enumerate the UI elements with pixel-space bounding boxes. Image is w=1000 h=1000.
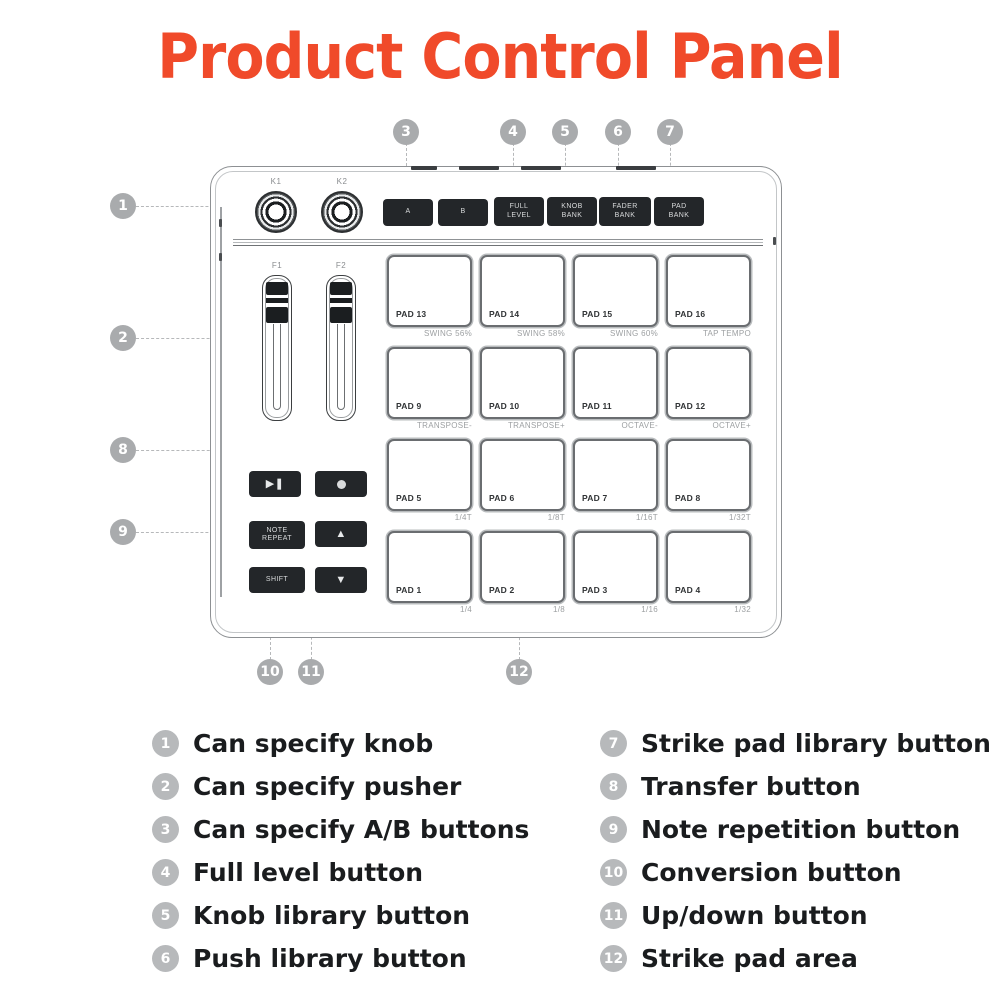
pad-9-label: PAD 9 [396, 401, 421, 411]
legend-text-6: Push library button [193, 944, 467, 973]
callout-2[interactable]: 2 [110, 325, 136, 351]
callout-1[interactable]: 1 [110, 193, 136, 219]
legend-item-4: 4 Full level button [152, 851, 529, 894]
callout-11[interactable]: 11 [298, 659, 324, 685]
legend-item-1: 1 Can specify knob [152, 722, 529, 765]
fader-f1[interactable] [262, 275, 292, 421]
top-edge-tick-1 [411, 166, 437, 170]
pad-1[interactable]: PAD 1 [387, 531, 472, 603]
pad-bank-button-label: PAD BANK [669, 203, 690, 220]
legend-badge-10: 10 [600, 859, 627, 886]
full-level-button-label: FULL LEVEL [507, 203, 531, 220]
a-button-label: A [405, 208, 410, 217]
legend-item-8: 8 Transfer button [600, 765, 991, 808]
device-notch-lower [219, 253, 222, 261]
callout-7[interactable]: 7 [657, 119, 683, 145]
top-edge-tick-3 [521, 166, 561, 170]
triangle-up-icon: ▲ [335, 529, 346, 540]
pad-2[interactable]: PAD 2 [480, 531, 565, 603]
pad-3-sub: 1/16 [573, 605, 658, 614]
shift-button-label: SHIFT [266, 576, 288, 585]
pad-11[interactable]: PAD 11 [573, 347, 658, 419]
record-icon [337, 480, 346, 489]
pad-9[interactable]: PAD 9 [387, 347, 472, 419]
pad-7-label: PAD 7 [582, 493, 607, 503]
legend-badge-5: 5 [152, 902, 179, 929]
knob-bank-button-label: KNOB BANK [561, 203, 582, 220]
legend-badge-9: 9 [600, 816, 627, 843]
legend-text-9: Note repetition button [641, 815, 960, 844]
legend-text-8: Transfer button [641, 772, 861, 801]
record-button[interactable] [315, 471, 367, 497]
fader-f1-wrap: F1 [262, 275, 292, 421]
legend-item-3: 3 Can specify A/B buttons [152, 808, 529, 851]
fader-f2-slot [337, 318, 345, 410]
legend-item-2: 2 Can specify pusher [152, 765, 529, 808]
fader-f2-wrap: F2 [326, 275, 356, 421]
pad-15-label: PAD 15 [582, 309, 612, 319]
fader-f2-label: F2 [336, 261, 346, 270]
pad-13-sub: SWING 56% [387, 329, 472, 338]
legend-item-6: 6 Push library button [152, 937, 529, 980]
pad-3-label: PAD 3 [582, 585, 607, 595]
legend-badge-3: 3 [152, 816, 179, 843]
fader-f1-label: F1 [272, 261, 282, 270]
b-button[interactable]: B [438, 199, 488, 226]
fader-f1-slot [273, 318, 281, 410]
legend-badge-4: 4 [152, 859, 179, 886]
b-button-label: B [460, 208, 465, 217]
pad-13-label: PAD 13 [396, 309, 426, 319]
pad-2-sub: 1/8 [480, 605, 565, 614]
pad-1-label: PAD 1 [396, 585, 421, 595]
legend-text-3: Can specify A/B buttons [193, 815, 529, 844]
legend-text-4: Full level button [193, 858, 423, 887]
play-pause-icon: ▶❚ [266, 479, 284, 490]
up-button[interactable]: ▲ [315, 521, 367, 547]
callout-10[interactable]: 10 [257, 659, 283, 685]
callout-6[interactable]: 6 [605, 119, 631, 145]
triangle-down-icon: ▼ [335, 575, 346, 586]
legend-column-right: 7 Strike pad library button 8 Transfer b… [600, 722, 991, 980]
pad-4[interactable]: PAD 4 [666, 531, 751, 603]
legend-badge-11: 11 [600, 902, 627, 929]
top-edge-tick-2 [459, 166, 499, 170]
note-repeat-button-label: NOTE REPEAT [262, 527, 292, 544]
pad-5[interactable]: PAD 5 [387, 439, 472, 511]
pad-10-sub: TRANSPOSE+ [480, 421, 565, 430]
pad-7-sub: 1/16T [573, 513, 658, 522]
pad-16-sub: TAP TEMPO [666, 329, 751, 338]
legend-badge-8: 8 [600, 773, 627, 800]
pad-14-label: PAD 14 [489, 309, 519, 319]
pad-5-label: PAD 5 [396, 493, 421, 503]
legend-badge-6: 6 [152, 945, 179, 972]
fader-f1-cap[interactable] [266, 282, 288, 324]
pad-16[interactable]: PAD 16 [666, 255, 751, 327]
pad-7[interactable]: PAD 7 [573, 439, 658, 511]
callout-4[interactable]: 4 [500, 119, 526, 145]
pad-6-label: PAD 6 [489, 493, 514, 503]
callout-9[interactable]: 9 [110, 519, 136, 545]
pad-10[interactable]: PAD 10 [480, 347, 565, 419]
pad-12-label: PAD 12 [675, 401, 705, 411]
pad-bank-button[interactable]: PAD BANK [654, 197, 704, 226]
device-left-edge-strip [220, 207, 222, 597]
fader-bank-button-label: FADER BANK [612, 203, 637, 220]
callout-12[interactable]: 12 [506, 659, 532, 685]
knob-k2-wrap: K2 [321, 191, 363, 233]
a-button[interactable]: A [383, 199, 433, 226]
knob-k1-label: K1 [271, 177, 282, 186]
callout-3[interactable]: 3 [393, 119, 419, 145]
midi-controller-device: K1 K2 A B FULL LEVEL KNOB BANK FADER BAN… [210, 166, 782, 638]
device-notch-upper [219, 219, 222, 227]
knob-k2-label: K2 [337, 177, 348, 186]
pad-11-sub: OCTAVE- [573, 421, 658, 430]
legend-text-7: Strike pad library button [641, 729, 991, 758]
pad-13[interactable]: PAD 13 [387, 255, 472, 327]
knob-k1[interactable] [255, 191, 297, 233]
pad-15-sub: SWING 60% [573, 329, 658, 338]
pad-16-label: PAD 16 [675, 309, 705, 319]
down-button[interactable]: ▼ [315, 567, 367, 593]
legend-item-11: 11 Up/down button [600, 894, 991, 937]
fader-bank-button[interactable]: FADER BANK [599, 197, 651, 226]
page-title: Product Control Panel [40, 20, 960, 93]
legend-item-12: 12 Strike pad area [600, 937, 991, 980]
legend-item-10: 10 Conversion button [600, 851, 991, 894]
legend-text-10: Conversion button [641, 858, 902, 887]
pad-8-label: PAD 8 [675, 493, 700, 503]
pad-9-sub: TRANSPOSE- [387, 421, 472, 430]
callout-8[interactable]: 8 [110, 437, 136, 463]
pad-8[interactable]: PAD 8 [666, 439, 751, 511]
pad-11-label: PAD 11 [582, 401, 612, 411]
device-notch-right [773, 237, 776, 245]
legend-text-2: Can specify pusher [193, 772, 461, 801]
fader-f2[interactable] [326, 275, 356, 421]
legend-text-11: Up/down button [641, 901, 868, 930]
play-pause-button[interactable]: ▶❚ [249, 471, 301, 497]
pad-12[interactable]: PAD 12 [666, 347, 751, 419]
pad-2-label: PAD 2 [489, 585, 514, 595]
legend-badge-2: 2 [152, 773, 179, 800]
section-divider [233, 239, 763, 247]
legend-column-left: 1 Can specify knob 2 Can specify pusher … [152, 722, 529, 980]
knob-k1-wrap: K1 [255, 191, 297, 233]
legend-badge-12: 12 [600, 945, 627, 972]
pad-5-sub: 1/4T [387, 513, 472, 522]
shift-button[interactable]: SHIFT [249, 567, 305, 593]
pad-8-sub: 1/32T [666, 513, 751, 522]
pad-14-sub: SWING 58% [480, 329, 565, 338]
full-level-button[interactable]: FULL LEVEL [494, 197, 544, 226]
product-control-panel-diagram: Product Control Panel [0, 0, 1000, 1000]
legend-badge-7: 7 [600, 730, 627, 757]
knob-bank-button[interactable]: KNOB BANK [547, 197, 597, 226]
pad-4-label: PAD 4 [675, 585, 700, 595]
legend-text-1: Can specify knob [193, 729, 433, 758]
pad-10-label: PAD 10 [489, 401, 519, 411]
legend-item-7: 7 Strike pad library button [600, 722, 991, 765]
note-repeat-button[interactable]: NOTE REPEAT [249, 521, 305, 549]
pad-6-sub: 1/8T [480, 513, 565, 522]
pad-12-sub: OCTAVE+ [666, 421, 751, 430]
legend-item-9: 9 Note repetition button [600, 808, 991, 851]
fader-f2-cap[interactable] [330, 282, 352, 324]
top-edge-tick-4 [616, 166, 656, 170]
pad-6[interactable]: PAD 6 [480, 439, 565, 511]
pad-1-sub: 1/4 [387, 605, 472, 614]
knob-k2[interactable] [321, 191, 363, 233]
pad-4-sub: 1/32 [666, 605, 751, 614]
legend-item-5: 5 Knob library button [152, 894, 529, 937]
legend-text-12: Strike pad area [641, 944, 858, 973]
pad-15[interactable]: PAD 15 [573, 255, 658, 327]
pad-14[interactable]: PAD 14 [480, 255, 565, 327]
legend-badge-1: 1 [152, 730, 179, 757]
pad-3[interactable]: PAD 3 [573, 531, 658, 603]
legend-text-5: Knob library button [193, 901, 470, 930]
callout-5[interactable]: 5 [552, 119, 578, 145]
